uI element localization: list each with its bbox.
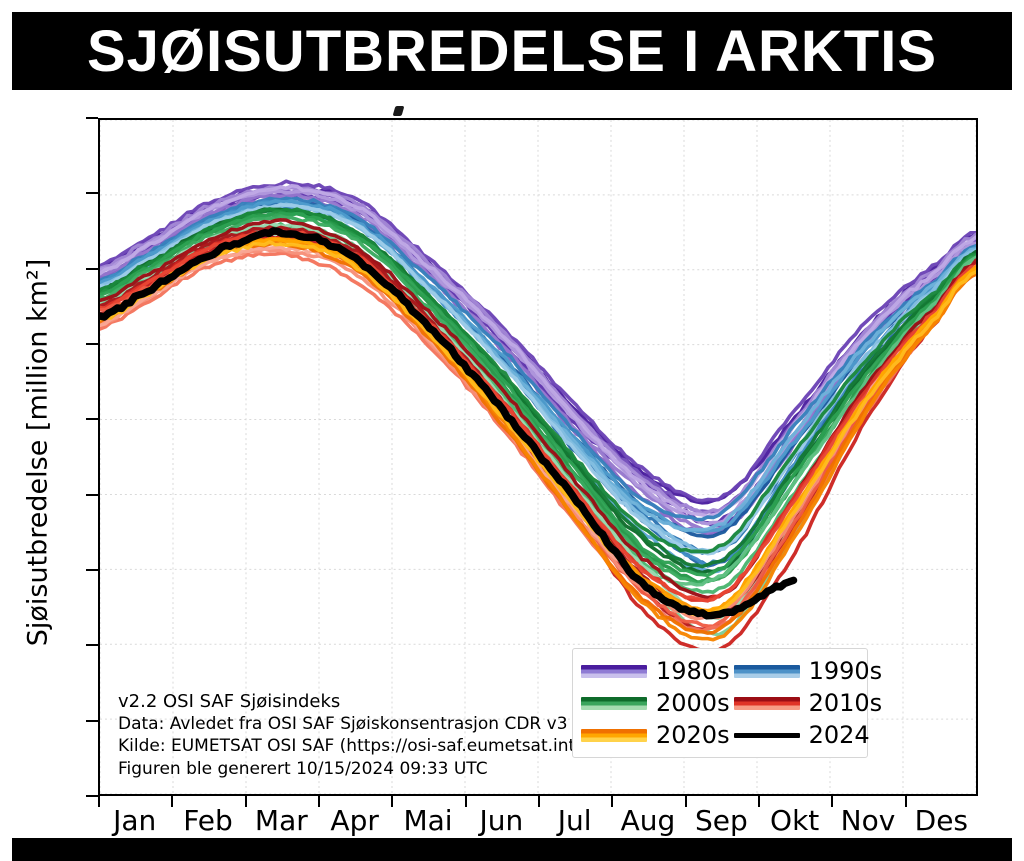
x-tick-mark (758, 796, 760, 807)
x-tick-label: Sep (695, 804, 748, 837)
x-tick-mark (831, 796, 833, 807)
title-banner: SJØISUTBREDELSE I ARKTIS (12, 12, 1012, 90)
x-tick-mark (171, 796, 173, 807)
x-tick-mark (245, 796, 247, 807)
y-tick-mark (86, 720, 98, 722)
x-tick-label: Okt (770, 804, 819, 837)
y-tick-mark (86, 795, 98, 797)
legend-item-2000s[interactable]: 2000s (581, 687, 730, 719)
clipped-marker-artifact (393, 106, 405, 116)
x-tick-label: Apr (330, 804, 378, 837)
legend-swatch (581, 665, 647, 678)
legend-label: 2010s (809, 691, 883, 715)
legend-item-2024[interactable]: 2024 (734, 719, 883, 751)
x-tick-label: Jun (479, 804, 523, 837)
y-axis-label: Sjøisutbredelse [million km²] (23, 143, 54, 763)
x-tick-mark (538, 796, 540, 807)
x-tick-mark (391, 796, 393, 807)
y-tick-mark (86, 343, 98, 345)
x-tick-mark (98, 796, 100, 807)
legend-item-1990s[interactable]: 1990s (734, 655, 883, 687)
y-tick-mark (86, 117, 98, 119)
x-tick-label: Mai (403, 804, 452, 837)
legend-label: 2024 (809, 723, 870, 747)
attribution-line-0: v2.2 OSI SAF Sjøisindeks (118, 690, 582, 713)
x-tick-label: Jul (558, 804, 592, 837)
legend-item-1980s[interactable]: 1980s (581, 655, 730, 687)
y-tick-mark (86, 192, 98, 194)
attribution-line-1: Data: Avledet fra OSI SAF Sjøiskonsentra… (118, 713, 582, 735)
y-tick-mark (86, 268, 98, 270)
x-tick-mark (611, 796, 613, 807)
y-tick-mark (86, 644, 98, 646)
legend-label: 2020s (656, 723, 730, 747)
x-tick-mark (318, 796, 320, 807)
x-tick-mark (465, 796, 467, 807)
chart-legend: 1980s1990s2000s2010s2020s2024 (572, 648, 868, 758)
chart-figure: Sjøisutbredelse [million km²] 0246810121… (0, 92, 1024, 832)
x-tick-label: Nov (841, 804, 896, 837)
legend-label: 2000s (656, 691, 730, 715)
x-tick-mark (905, 796, 907, 807)
legend-label: 1990s (809, 659, 883, 683)
x-tick-label: Aug (621, 804, 676, 837)
legend-swatch (734, 733, 800, 738)
attribution-line-3: Figuren ble generert 10/15/2024 09:33 UT… (118, 758, 582, 780)
legend-label: 1980s (656, 659, 730, 683)
x-tick-label: Mar (255, 804, 308, 837)
legend-swatch (581, 729, 647, 742)
y-tick-mark (86, 494, 98, 496)
y-tick-mark (86, 569, 98, 571)
attribution-block: v2.2 OSI SAF Sjøisindeks Data: Avledet f… (118, 690, 582, 780)
legend-swatch (581, 697, 647, 710)
x-tick-label: Jan (113, 804, 156, 837)
legend-item-2020s[interactable]: 2020s (581, 719, 730, 751)
legend-swatch (734, 665, 800, 678)
bottom-banner (12, 838, 1012, 861)
x-tick-label: Feb (183, 804, 233, 837)
legend-item-2010s[interactable]: 2010s (734, 687, 883, 719)
legend-swatch (734, 697, 800, 710)
y-tick-mark (86, 418, 98, 420)
x-tick-label: Des (915, 804, 968, 837)
attribution-line-2: Kilde: EUMETSAT OSI SAF (https://osi-saf… (118, 735, 582, 757)
x-tick-mark (685, 796, 687, 807)
page-title: SJØISUTBREDELSE I ARKTIS (12, 12, 1012, 90)
figure-root: SJØISUTBREDELSE I ARKTIS Sjøisutbredelse… (0, 0, 1024, 861)
